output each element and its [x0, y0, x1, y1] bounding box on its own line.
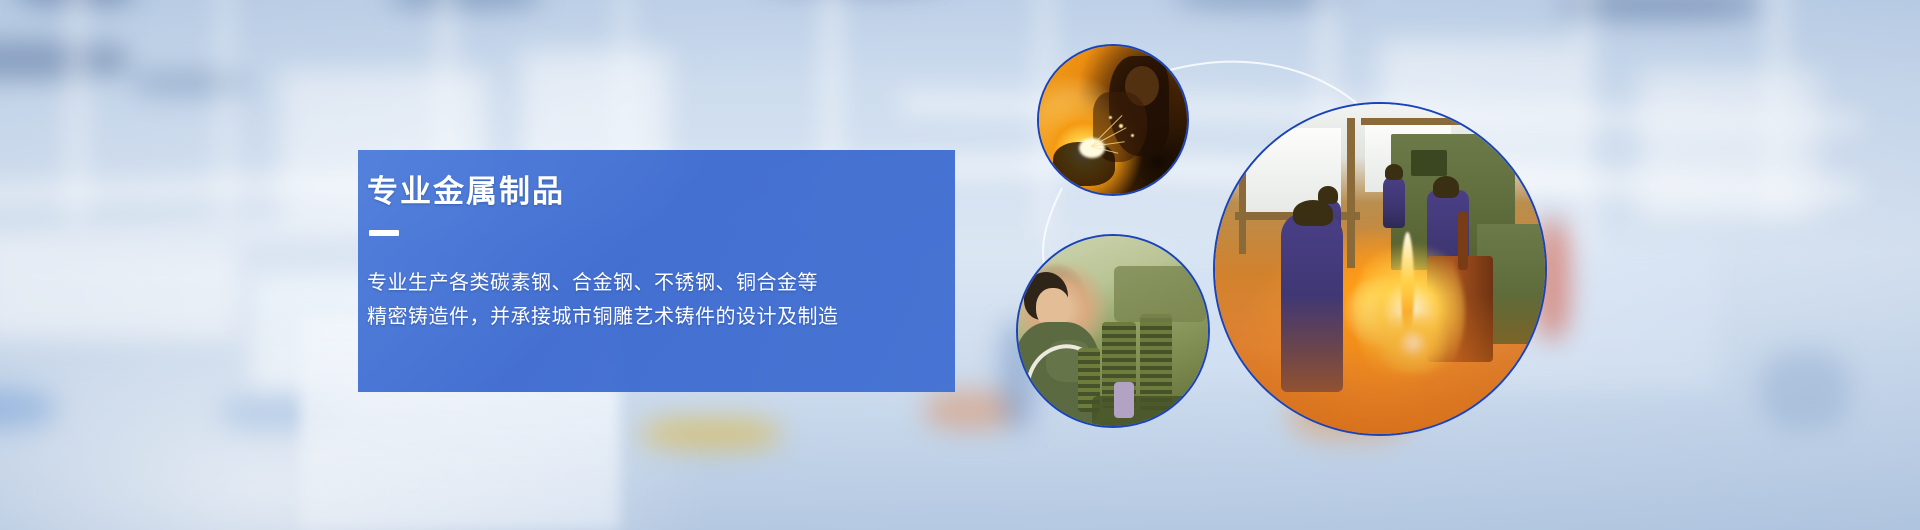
description-line-2: 精密铸造件，并承接城市铜雕艺术铸件的设计及制造: [367, 300, 1047, 334]
photo-machine-operator: [1016, 234, 1210, 428]
description-text: 专业生产各类碳素钢、合金钢、不锈钢、铜合金等 精密铸造件，并承接城市铜雕艺术铸件…: [367, 266, 1047, 334]
title-divider: [369, 230, 399, 236]
hero-banner: 专业金属制品 专业生产各类碳素钢、合金钢、不锈钢、铜合金等 精密铸造件，并承接城…: [0, 0, 1920, 530]
photo-welding-sparks: [1037, 44, 1189, 196]
headline-copy: 专业金属制品 专业生产各类碳素钢、合金钢、不锈钢、铜合金等 精密铸造件，并承接城…: [367, 150, 1027, 392]
photo-foundry-pour: [1213, 102, 1547, 436]
page-title: 专业金属制品: [367, 176, 565, 207]
description-line-1: 专业生产各类碳素钢、合金钢、不锈钢、铜合金等: [367, 266, 1047, 300]
